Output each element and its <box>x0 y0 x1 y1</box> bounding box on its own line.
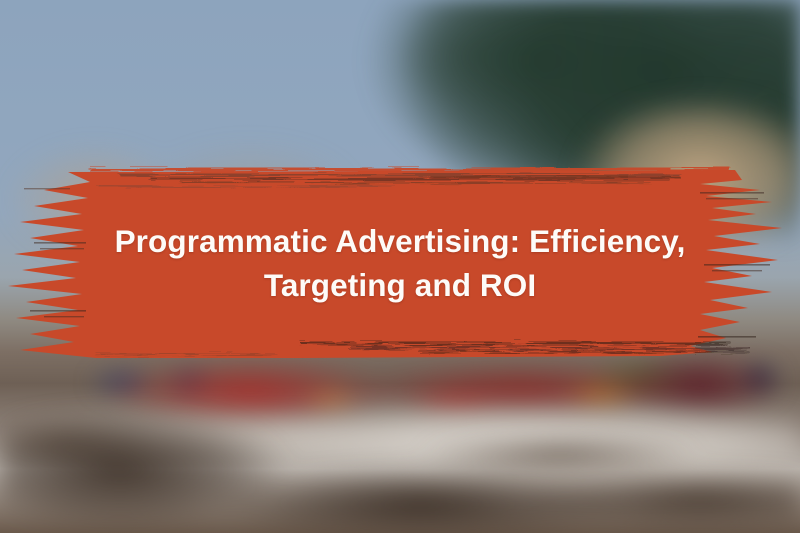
headline-line-1: Programmatic Advertising: Efficiency, <box>115 219 686 263</box>
headline-line-2: Targeting and ROI <box>264 263 536 307</box>
headline-block: Programmatic Advertising: Efficiency, Ta… <box>0 168 800 358</box>
banner-canvas: Programmatic Advertising: Efficiency, Ta… <box>0 0 800 533</box>
